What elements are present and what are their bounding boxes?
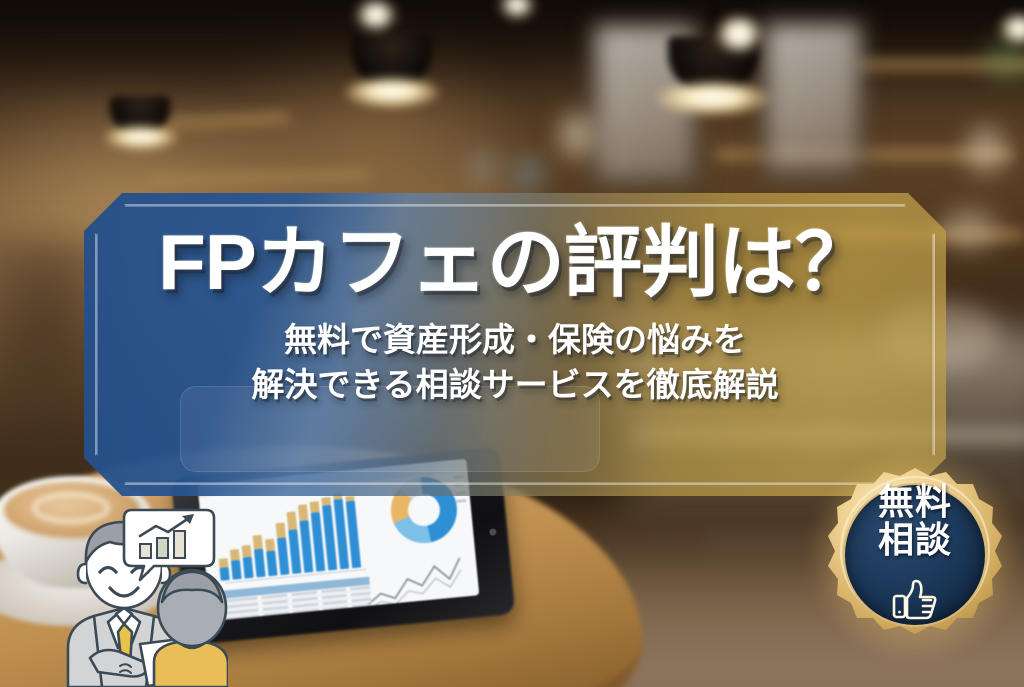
- title-plaque: FPカフェの評判は？ 無料で資産形成・保険の悩みを 解決できる相談サービスを徹底…: [84, 193, 946, 496]
- lamp-light: [344, 78, 440, 108]
- thumbs-up-icon: [892, 578, 938, 620]
- bokeh-highlight: [940, 208, 998, 250]
- menu-board: [760, 18, 865, 178]
- bokeh-highlight: [966, 126, 1006, 174]
- lamp-cord: [712, 0, 716, 30]
- badge-line-2: 相談: [826, 521, 1004, 559]
- bokeh-highlight: [560, 112, 594, 158]
- lamp-light: [104, 126, 178, 150]
- subtitle-line-2: 解決できる相談サービスを徹底解説: [251, 366, 778, 405]
- hero-banner-image: FPカフェの評判は？ 無料で資産形成・保険の悩みを 解決できる相談サービスを徹底…: [0, 0, 1024, 687]
- bokeh-plant: [984, 40, 1024, 80]
- subtitle-line-1: 無料で資産形成・保険の悩みを: [284, 321, 746, 360]
- page-title: FPカフェの評判は？: [158, 223, 872, 303]
- bokeh-highlight: [470, 150, 496, 184]
- consultation-illustration: [28, 496, 228, 687]
- lamp-light: [656, 82, 770, 116]
- subtitle-group: 無料で資産形成・保険の悩みを 解決できる相談サービスを徹底解説: [251, 321, 778, 406]
- badge-line-1: 無料: [826, 483, 1004, 521]
- ceiling-spotlight: [356, 2, 396, 28]
- badge-text: 無料 相談: [826, 483, 1004, 559]
- stacked-bar-chart: [209, 489, 366, 581]
- free-consultation-badge: 無料 相談: [826, 466, 1004, 644]
- bokeh-highlight: [514, 156, 544, 192]
- ceiling-spotlight: [716, 18, 762, 50]
